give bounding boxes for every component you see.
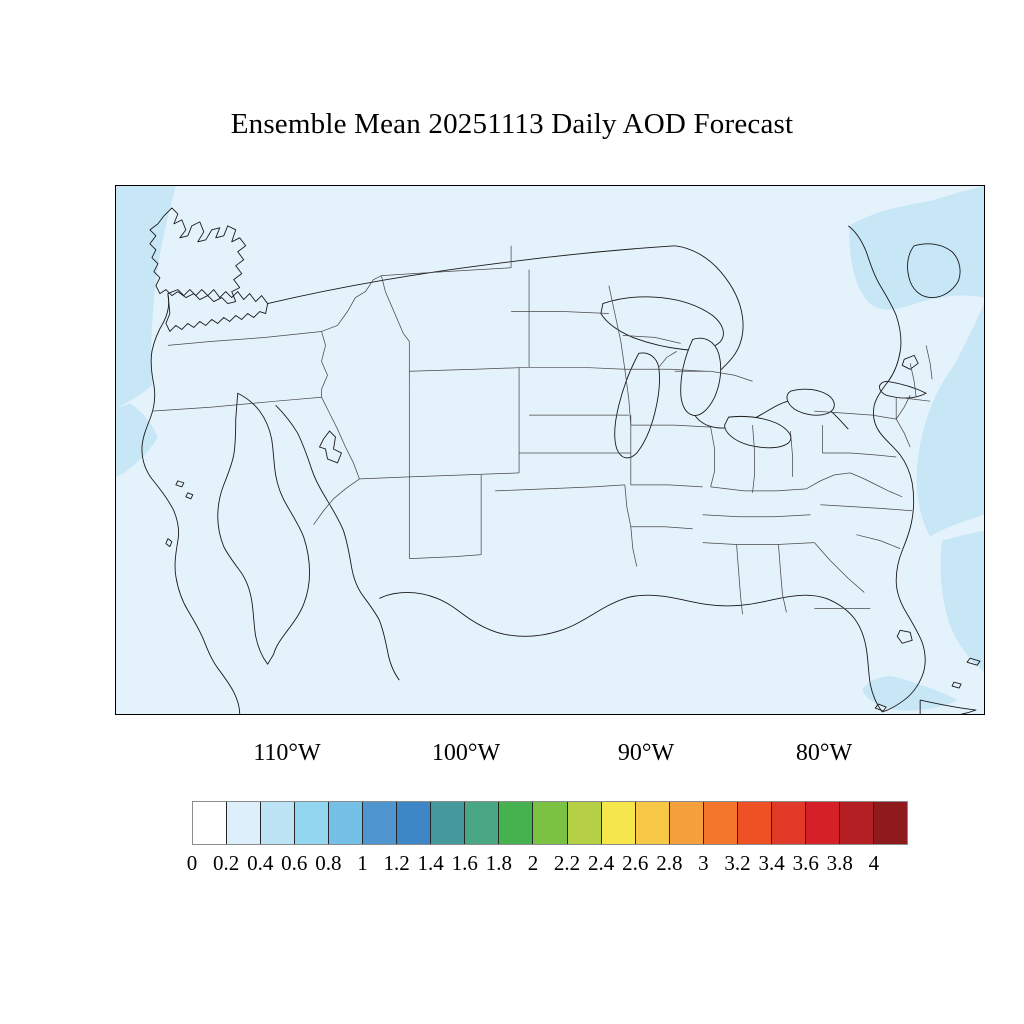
page-title: Ensemble Mean 20251113 Daily AOD Forecas… — [0, 108, 1024, 141]
colorbar-segment[interactable] — [465, 802, 499, 844]
colorbar-segment[interactable] — [261, 802, 295, 844]
colorbar-segment[interactable] — [772, 802, 806, 844]
colorbar-segment[interactable] — [568, 802, 602, 844]
x-axis-label-100w: 100°W — [386, 740, 546, 767]
colorbar-segment[interactable] — [499, 802, 533, 844]
colorbar-segment[interactable] — [431, 802, 465, 844]
map-canvas: .land{fill:#e4f2fb;} .ocean{fill:#e4f2fb… — [116, 186, 984, 714]
x-axis-label-80w: 80°W — [744, 740, 904, 767]
colorbar-segment[interactable] — [636, 802, 670, 844]
colorbar-tick-label: 4 — [844, 851, 904, 876]
x-axis-label-110w: 110°W — [207, 740, 367, 767]
colorbar-segment[interactable] — [533, 802, 567, 844]
colorbar-segment[interactable] — [840, 802, 874, 844]
colorbar-segment[interactable] — [670, 802, 704, 844]
colorbar-segment[interactable] — [602, 802, 636, 844]
colorbar-segment[interactable] — [227, 802, 261, 844]
colorbar-segment[interactable] — [806, 802, 840, 844]
colorbar-segment[interactable] — [397, 802, 431, 844]
colorbar-segment[interactable] — [193, 802, 227, 844]
colorbar-segment[interactable] — [329, 802, 363, 844]
aod-forecast-figure: Ensemble Mean 20251113 Daily AOD Forecas… — [0, 0, 1024, 1024]
colorbar-segment[interactable] — [363, 802, 397, 844]
colorbar-tick-labels: 00.20.40.60.811.21.41.61.822.22.42.62.83… — [192, 851, 908, 881]
map-panel[interactable]: .land{fill:#e4f2fb;} .ocean{fill:#e4f2fb… — [115, 185, 985, 715]
colorbar-segment[interactable] — [295, 802, 329, 844]
colorbar-segment[interactable] — [704, 802, 738, 844]
colorbar[interactable] — [192, 801, 908, 845]
colorbar-segment[interactable] — [874, 802, 907, 844]
x-axis-label-90w: 90°W — [566, 740, 726, 767]
colorbar-segment[interactable] — [738, 802, 772, 844]
